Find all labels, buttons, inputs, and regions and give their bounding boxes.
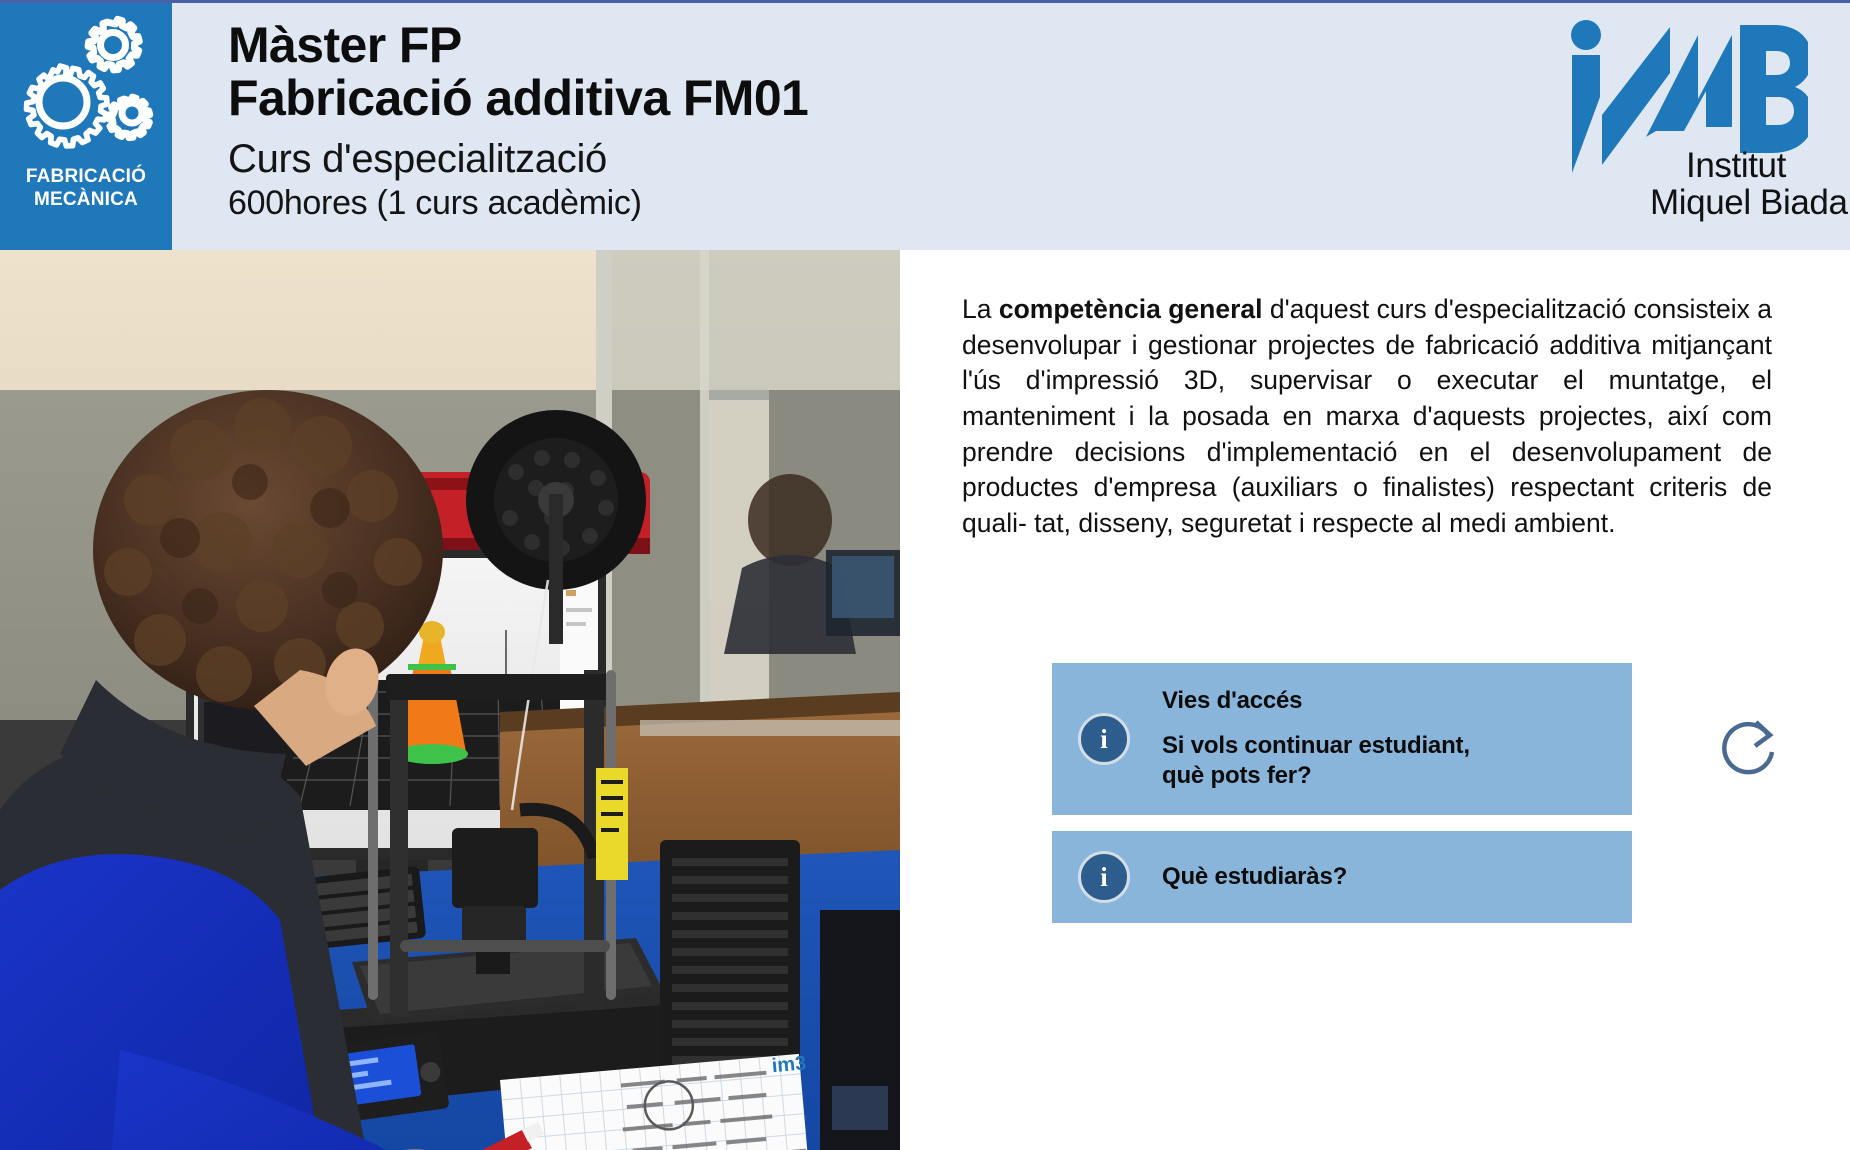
category-label: FABRICACIÓ MECÀNICA (26, 165, 146, 211)
course-subtitle: Curs d'especialització (228, 137, 808, 182)
institution-name-line1: Institut (1686, 146, 1786, 185)
infobox-vies-acces[interactable]: i Vies d'accés Si vols continuar estudia… (1052, 663, 1632, 815)
photo-illustration: im3 (0, 250, 900, 1150)
institution-logo: Institut Miquel Biada (1558, 17, 1808, 237)
refresh-circular-arrow-icon (1715, 712, 1787, 784)
category-label-line2: MECÀNICA (34, 189, 138, 210)
institution-name-line2: Miquel Biada (1650, 184, 1848, 221)
paragraph-rest: d'aquest curs d'especialització consiste… (962, 294, 1772, 538)
paragraph-bold-term: competència general (999, 294, 1263, 324)
course-duration: 600hores (1 curs acadèmic) (228, 184, 808, 222)
category-badge: FABRICACIÓ MECÀNICA (0, 3, 172, 253)
info-icon: i (1078, 713, 1130, 765)
institution-name: Institut Miquel Biada (1686, 147, 1848, 221)
infobox-text: Vies d'accés Si vols continuar estudiant… (1162, 686, 1470, 792)
infobox-line2: què pots fer? (1162, 761, 1470, 792)
gears-icon (11, 9, 161, 159)
header: FABRICACIÓ MECÀNICA Màster FP Fabricació… (0, 0, 1850, 250)
course-title-line2: Fabricació additiva FM01 (228, 72, 808, 125)
infobox-line1: Si vols continuar estudiant, (1162, 731, 1470, 762)
paragraph-prefix: La (962, 294, 999, 324)
title-block: Màster FP Fabricació additiva FM01 Curs … (228, 19, 808, 222)
svg-text:im3: im3 (771, 1052, 807, 1077)
refresh-button[interactable] (1715, 712, 1787, 784)
infobox-heading: Vies d'accés (1162, 686, 1470, 717)
info-icon: i (1078, 851, 1130, 903)
infobox-heading: Què estudiaràs? (1162, 862, 1347, 893)
infobox-text: Què estudiaràs? (1162, 862, 1347, 893)
course-info-card: FABRICACIÓ MECÀNICA Màster FP Fabricació… (0, 0, 1850, 1150)
course-title-line1: Màster FP (228, 19, 808, 72)
competence-paragraph: La competència general d'aquest curs d'e… (962, 292, 1772, 541)
category-label-line1: FABRICACIÓ (26, 166, 146, 187)
classroom-3d-printing-photo: im3 (0, 250, 900, 1150)
infobox-que-estudiaras[interactable]: i Què estudiaràs? (1052, 831, 1632, 923)
